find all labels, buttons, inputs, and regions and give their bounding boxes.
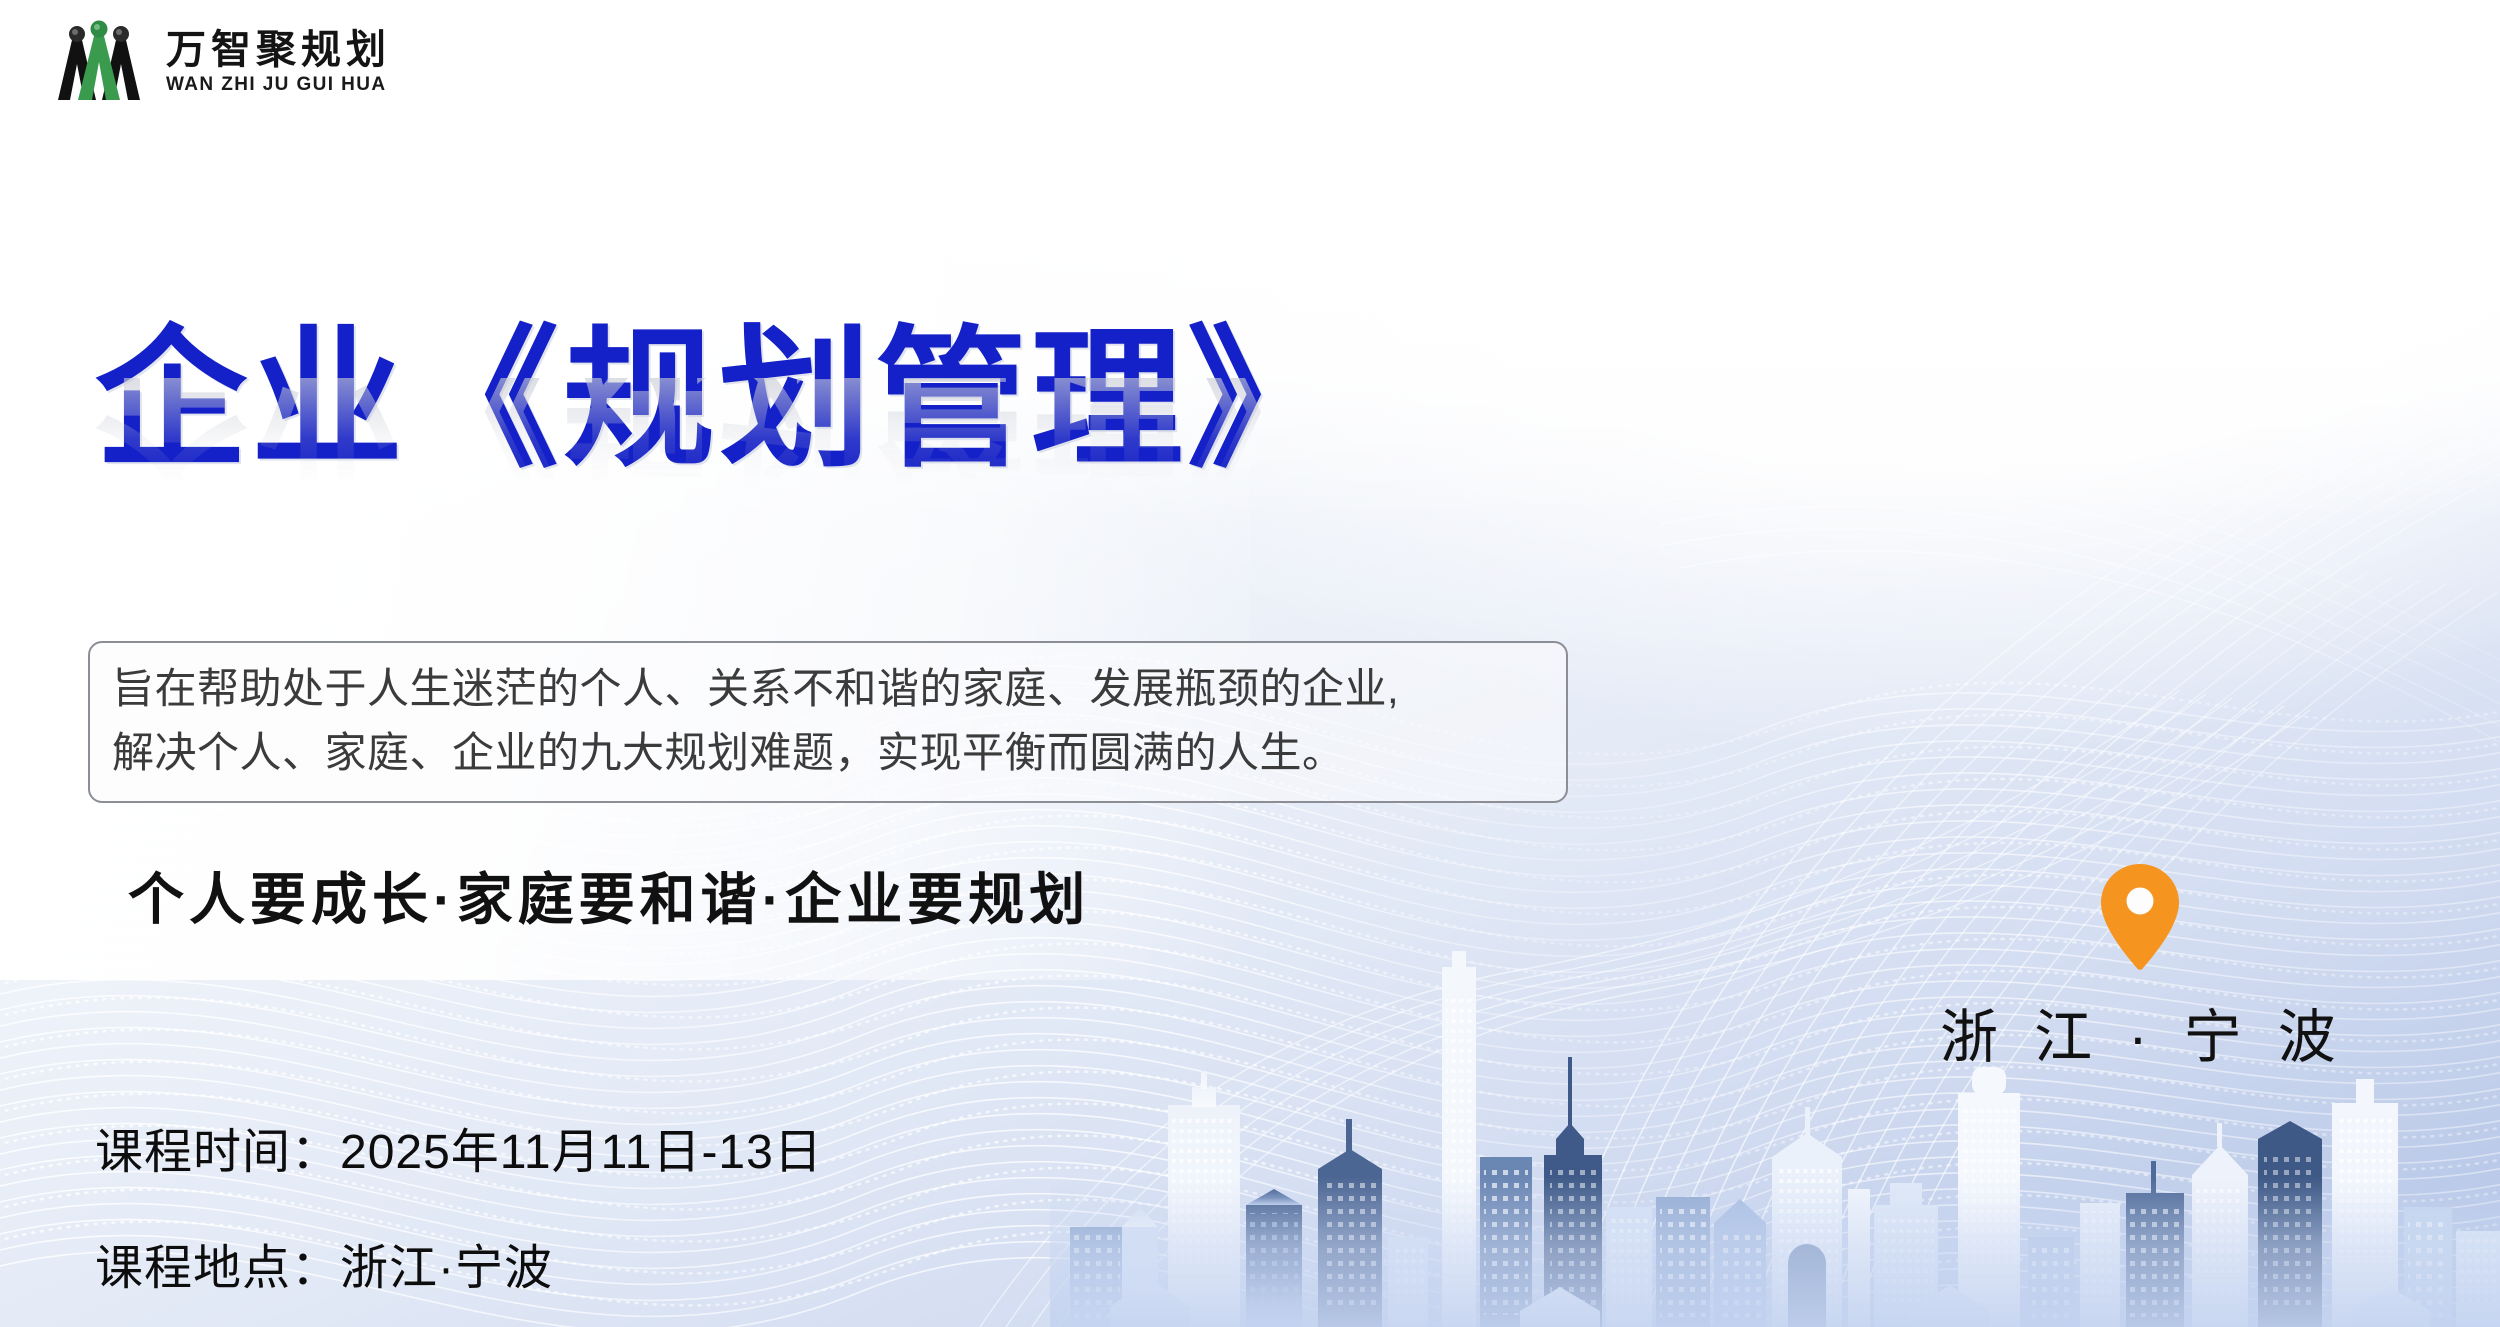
description-line-1: 旨在帮助处于人生迷茫的个人、关系不和谐的家庭、发展瓶颈的企业, <box>112 657 1544 721</box>
slogan-text: 个人要成长·家庭要和谐·企业要规划 <box>128 855 1090 936</box>
course-time-row: 课程时间：2025年11月11日-13日 <box>95 1112 823 1182</box>
course-info: 课程时间：2025年11月11日-13日 课程地点：浙江·宁波 <box>95 1112 823 1298</box>
location-label: 浙 江 · 宁 波 <box>1940 990 2340 1074</box>
poster-canvas: 万智聚规划 WAN ZHI JU GUI HUA 企业《规划管理》 企业《规划管… <box>0 0 2500 1327</box>
brand-logo[interactable]: 万智聚规划 WAN ZHI JU GUI HUA <box>50 18 391 106</box>
course-place-row: 课程地点：浙江·宁波 <box>95 1228 823 1298</box>
three-people-logo-icon <box>50 18 148 106</box>
hero-title-block: 企业《规划管理》 企业《规划管理》 <box>95 318 1575 598</box>
description-box: 旨在帮助处于人生迷茫的个人、关系不和谐的家庭、发展瓶颈的企业, 解决个人、家庭、… <box>88 641 1568 803</box>
brand-text: 万智聚规划 WAN ZHI JU GUI HUA <box>166 28 391 97</box>
brand-name-en: WAN ZHI JU GUI HUA <box>166 74 391 96</box>
brand-name-cn: 万智聚规划 <box>166 28 391 73</box>
description-line-2: 解决个人、家庭、企业的九大规划难题，实现平衡而圆满的人生。 <box>112 721 1544 785</box>
location-group: 浙 江 · 宁 波 <box>1940 862 2340 1074</box>
title-reflection: 企业《规划管理》 <box>95 378 1575 488</box>
map-pin-icon <box>2098 862 2182 972</box>
